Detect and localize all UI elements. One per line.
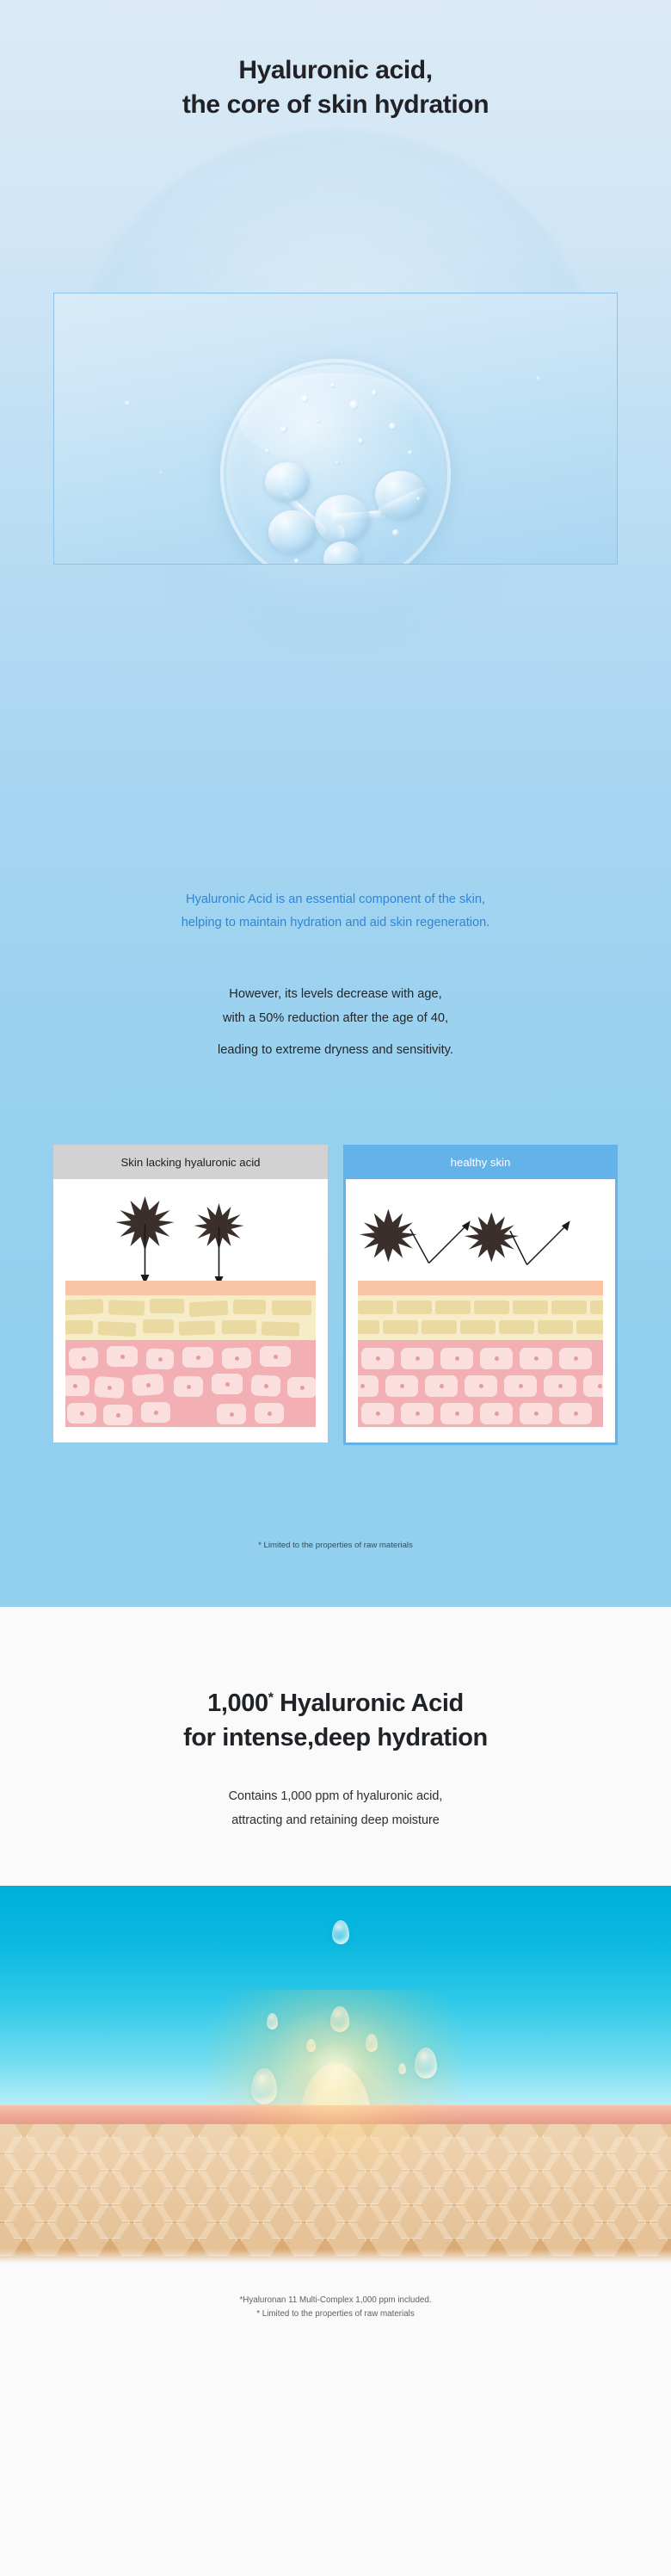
section2-title-rest: Hyaluronic Acid bbox=[274, 1690, 464, 1717]
skin-layers-lacking bbox=[65, 1281, 316, 1427]
skin-layers-healthy bbox=[358, 1281, 603, 1427]
water-droplet bbox=[398, 2063, 406, 2074]
section2-title: 1,000* Hyaluronic Acid for intense,deep … bbox=[0, 1686, 671, 1755]
comparison-card-lacking-title: Skin lacking hyaluronic acid bbox=[53, 1145, 328, 1179]
honeycomb-skin-structure bbox=[0, 2124, 671, 2264]
intro-dark-line3: leading to extreme dryness and sensitivi… bbox=[218, 1043, 453, 1057]
hero-absorption-image bbox=[0, 1886, 671, 2264]
intro-dark-line1: However, its levels decrease with age, bbox=[229, 987, 441, 1001]
water-droplet bbox=[267, 2013, 278, 2029]
intro-blue-paragraph: Hyaluronic Acid is an essential componen… bbox=[0, 888, 671, 935]
irritant-penetration-arrows bbox=[65, 1189, 316, 1286]
section1-footnote: * Limited to the properties of raw mater… bbox=[0, 1541, 671, 1550]
water-droplet bbox=[306, 2039, 316, 2052]
intro-dark-paragraph: However, its levels decrease with age, w… bbox=[0, 983, 671, 1063]
molecule-graphic bbox=[220, 359, 451, 565]
skin-surface-band bbox=[0, 2105, 671, 2124]
section-1000ppm: 1,000* Hyaluronic Acid for intense,deep … bbox=[0, 1607, 671, 2379]
section2-footnote: *Hyaluronan 11 Multi-Complex 1,000 ppm i… bbox=[0, 2264, 671, 2378]
hero-molecule-image bbox=[53, 293, 618, 565]
skin-comparison: Skin lacking hyaluronic acid bbox=[53, 1145, 618, 1445]
section2-sub-line2: attracting and retaining deep moisture bbox=[231, 1813, 440, 1827]
comparison-card-healthy: healthy skin bbox=[343, 1145, 618, 1445]
section2-footnote-line1: *Hyaluronan 11 Multi-Complex 1,000 ppm i… bbox=[239, 2295, 431, 2305]
page-title-line1: Hyaluronic acid, bbox=[238, 56, 432, 84]
comparison-card-lacking: Skin lacking hyaluronic acid bbox=[53, 1145, 328, 1445]
page-title: Hyaluronic acid, the core of skin hydrat… bbox=[0, 0, 671, 122]
water-droplet bbox=[415, 2048, 437, 2079]
section2-title-line2: for intense,deep hydration bbox=[183, 1724, 488, 1751]
section2-sub-line1: Contains 1,000 ppm of hyaluronic acid, bbox=[229, 1789, 443, 1803]
water-droplet bbox=[366, 2034, 378, 2052]
irritant-deflection-arrows bbox=[358, 1189, 603, 1286]
section2-footnote-line2: * Limited to the properties of raw mater… bbox=[256, 2309, 415, 2319]
skin-diagram-healthy bbox=[358, 1189, 603, 1427]
intro-blue-line2: helping to maintain hydration and aid sk… bbox=[182, 916, 490, 930]
petri-dish bbox=[220, 359, 451, 565]
water-droplet bbox=[332, 1920, 349, 1944]
section-hyaluronic-intro: Hyaluronic acid, the core of skin hydrat… bbox=[0, 0, 671, 1607]
ppm-number: 1,000 bbox=[207, 1690, 268, 1717]
skin-diagram-lacking bbox=[65, 1189, 316, 1427]
water-droplet bbox=[251, 2068, 277, 2104]
section2-subtext: Contains 1,000 ppm of hyaluronic acid, a… bbox=[0, 1784, 671, 1832]
intro-dark-line2: with a 50% reduction after the age of 40… bbox=[223, 1011, 448, 1025]
comparison-card-healthy-title: healthy skin bbox=[346, 1145, 615, 1179]
intro-blue-line1: Hyaluronic Acid is an essential componen… bbox=[186, 893, 485, 906]
water-droplet bbox=[330, 2006, 349, 2032]
section2-title-line1: 1,000* Hyaluronic Acid bbox=[207, 1690, 464, 1717]
page-title-line2: the core of skin hydration bbox=[0, 88, 671, 122]
infographic-page: Hyaluronic acid, the core of skin hydrat… bbox=[0, 0, 671, 2379]
